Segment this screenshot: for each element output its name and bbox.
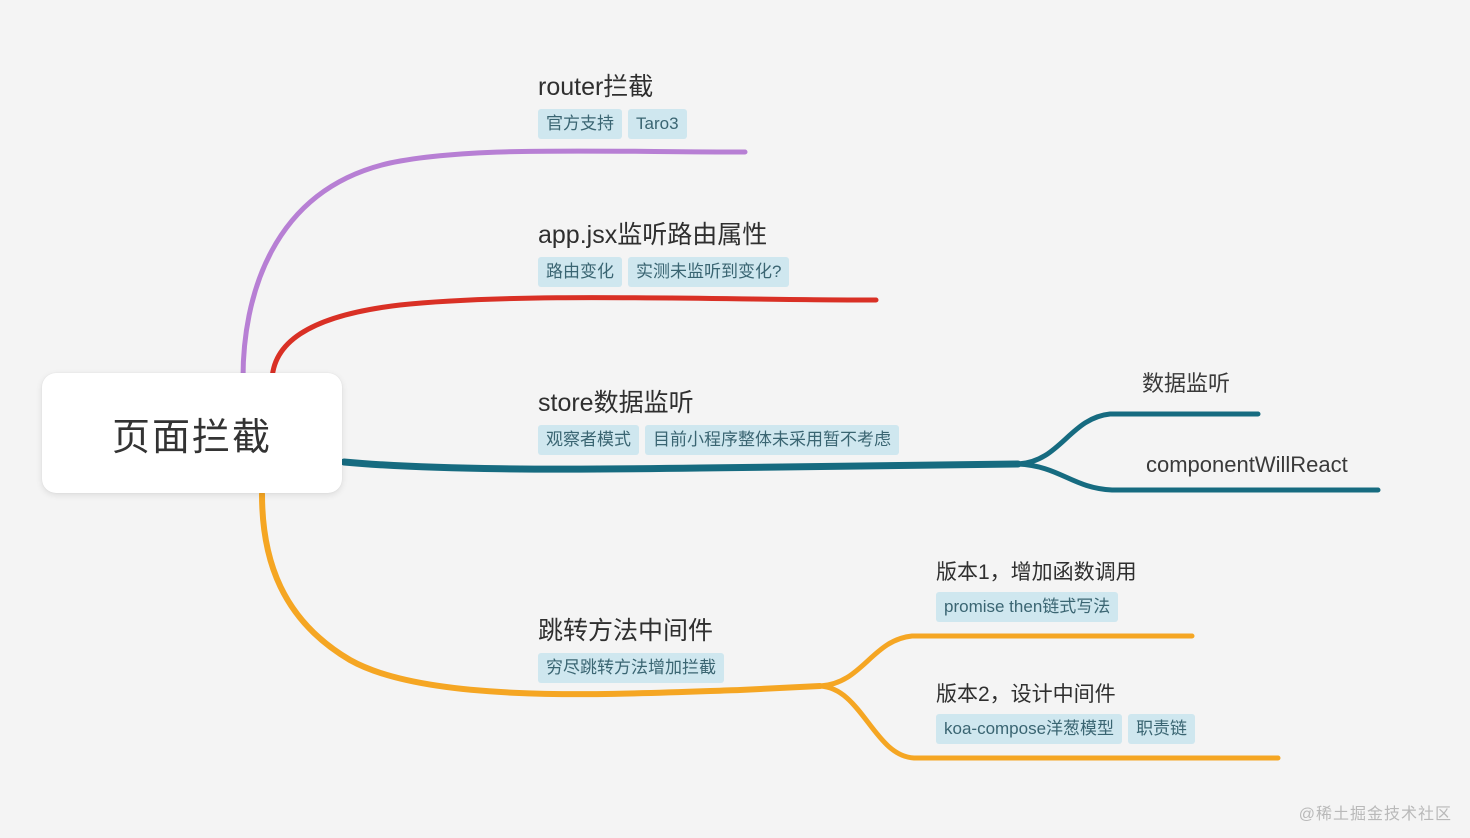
topic-version2-title: 版本2，设计中间件 xyxy=(936,683,1116,707)
topic-store[interactable]: store数据监听 观察者模式 目前小程序整体未采用暂不考虑 xyxy=(538,389,899,455)
tag-store-1[interactable]: 目前小程序整体未采用暂不考虑 xyxy=(645,425,899,455)
topic-middleware-title: 跳转方法中间件 xyxy=(538,617,713,646)
tag-store-0[interactable]: 观察者模式 xyxy=(538,425,639,455)
topic-version1[interactable]: 版本1，增加函数调用 promise then链式写法 xyxy=(936,561,1137,622)
topic-version2[interactable]: 版本2，设计中间件 koa-compose洋葱模型 职责链 xyxy=(936,683,1195,744)
topic-router-tags: 官方支持 Taro3 xyxy=(538,109,687,139)
topic-version2-tags: koa-compose洋葱模型 职责链 xyxy=(936,714,1195,744)
tag-appjsx-1[interactable]: 实测未监听到变化? xyxy=(628,257,789,287)
topic-version1-title: 版本1，增加函数调用 xyxy=(936,561,1137,585)
topic-store-cwr[interactable]: componentWillReact xyxy=(1146,452,1348,477)
topic-router-title: router拦截 xyxy=(538,73,653,102)
tag-version1-0[interactable]: promise then链式写法 xyxy=(936,592,1118,622)
tag-version2-0[interactable]: koa-compose洋葱模型 xyxy=(936,714,1122,744)
topic-store-title: store数据监听 xyxy=(538,389,694,418)
root-node-label: 页面拦截 xyxy=(112,406,272,461)
tag-router-1[interactable]: Taro3 xyxy=(628,109,687,139)
topic-store-watch-title: 数据监听 xyxy=(1142,371,1230,396)
tag-version2-1[interactable]: 职责链 xyxy=(1128,714,1195,744)
root-node[interactable]: 页面拦截 xyxy=(42,373,342,493)
topic-middleware[interactable]: 跳转方法中间件 穷尽跳转方法增加拦截 xyxy=(538,617,724,683)
topic-store-watch[interactable]: 数据监听 xyxy=(1142,371,1230,396)
topic-version1-tags: promise then链式写法 xyxy=(936,592,1118,622)
watermark: @稀土掘金技术社区 xyxy=(1299,800,1452,824)
topic-store-tags: 观察者模式 目前小程序整体未采用暂不考虑 xyxy=(538,425,899,455)
connector-appjsx xyxy=(272,298,876,382)
topic-router[interactable]: router拦截 官方支持 Taro3 xyxy=(538,73,687,139)
topic-appjsx[interactable]: app.jsx监听路由属性 路由变化 实测未监听到变化? xyxy=(538,221,789,287)
topic-store-cwr-title: componentWillReact xyxy=(1146,452,1348,477)
tag-appjsx-0[interactable]: 路由变化 xyxy=(538,257,622,287)
tag-router-0[interactable]: 官方支持 xyxy=(538,109,622,139)
topic-middleware-tags: 穷尽跳转方法增加拦截 xyxy=(538,653,724,683)
topic-appjsx-title: app.jsx监听路由属性 xyxy=(538,221,767,250)
mindmap-canvas: 页面拦截 router拦截 官方支持 Taro3 app.jsx监听路由属性 路… xyxy=(0,0,1470,838)
connector-store xyxy=(344,462,1018,469)
connector-middleware-v1 xyxy=(820,636,1192,686)
topic-appjsx-tags: 路由变化 实测未监听到变化? xyxy=(538,257,789,287)
tag-middleware-0[interactable]: 穷尽跳转方法增加拦截 xyxy=(538,653,724,683)
